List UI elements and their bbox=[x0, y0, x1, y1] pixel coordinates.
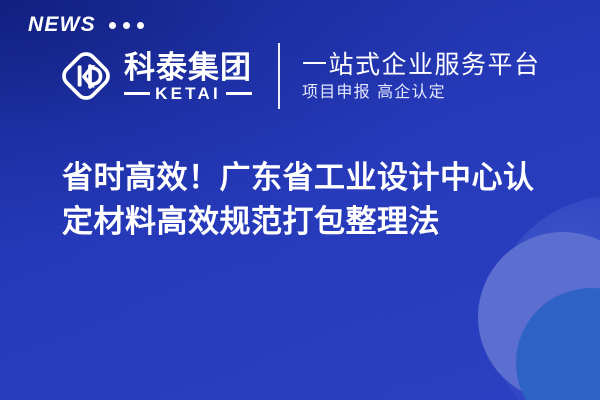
brand-block: 科泰集团 KETAI bbox=[58, 48, 252, 104]
tagline-sub: 项目申报 高企认定 bbox=[302, 83, 541, 101]
dot-icon bbox=[137, 22, 144, 29]
tagline-main: 一站式企业服务平台 bbox=[302, 51, 541, 79]
tagline-block: 一站式企业服务平台 项目申报 高企认定 bbox=[302, 51, 541, 101]
rule-left bbox=[124, 92, 150, 95]
eyebrow-dots-icon bbox=[109, 22, 144, 29]
brand-name-en: KETAI bbox=[155, 85, 221, 102]
eyebrow-label: NEWS bbox=[28, 14, 96, 35]
news-banner: NEWS bbox=[0, 0, 600, 400]
eyebrow: NEWS bbox=[28, 14, 144, 35]
headline-line-2: 定材料高效规范打包整理法 bbox=[62, 200, 574, 244]
headline: 省时高效！广东省工业设计中心认 定材料高效规范打包整理法 bbox=[62, 156, 574, 244]
brand-wordmark: 科泰集团 KETAI bbox=[124, 52, 252, 102]
ketai-logo-icon bbox=[58, 48, 114, 104]
brand-lockup: 科泰集团 KETAI 一站式企业服务平台 项目申报 高企认定 bbox=[58, 43, 541, 109]
headline-line-1: 省时高效！广东省工业设计中心认 bbox=[62, 156, 574, 200]
brand-name-en-row: KETAI bbox=[124, 85, 252, 102]
brand-name-cn: 科泰集团 bbox=[124, 52, 252, 84]
rule-right bbox=[226, 92, 252, 95]
dot-icon bbox=[123, 22, 130, 29]
vertical-divider bbox=[278, 43, 280, 109]
dot-icon bbox=[109, 22, 116, 29]
